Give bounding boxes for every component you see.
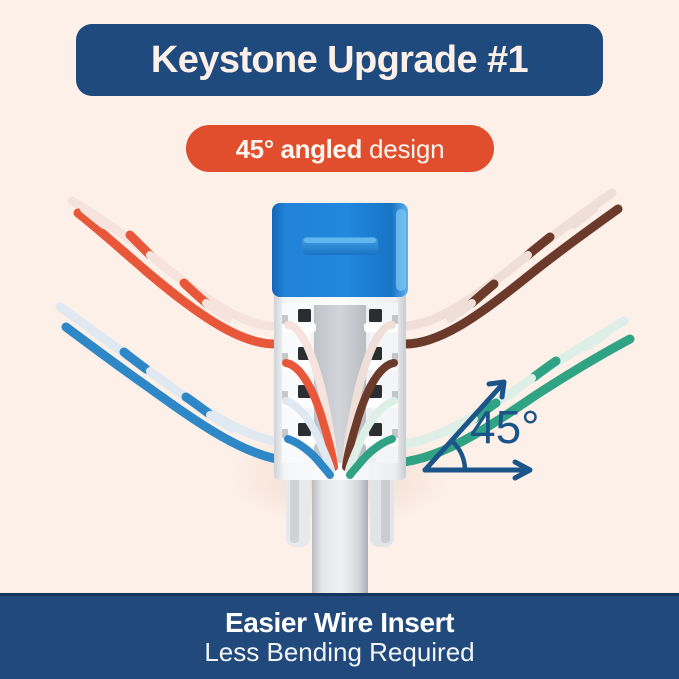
bottom-banner-headline: Easier Wire Insert — [225, 607, 454, 638]
page-title: Keystone Upgrade #1 — [151, 41, 528, 79]
wire-pair-orange — [72, 201, 288, 344]
cap-highlight — [396, 209, 406, 291]
infographic-canvas: Keystone Upgrade #1 45° angled design — [0, 0, 679, 679]
cable-jacket — [312, 475, 368, 595]
angle-label: 45° — [470, 401, 540, 453]
title-banner: Keystone Upgrade #1 — [76, 24, 603, 96]
wire-pair-brown — [392, 193, 618, 344]
feature-badge: 45° angled design — [186, 125, 494, 172]
bottom-banner-subtext: Less Bending Required — [204, 638, 474, 668]
wire-pair-blue — [60, 307, 292, 461]
feature-badge-light-text: design — [369, 136, 444, 162]
keystone-jack-illustration: 45° — [0, 175, 679, 595]
bottom-banner: Easier Wire Insert Less Bending Required — [0, 593, 679, 679]
product-image: 45° — [0, 175, 679, 595]
feature-badge-strong-text: 45° angled — [236, 136, 362, 162]
